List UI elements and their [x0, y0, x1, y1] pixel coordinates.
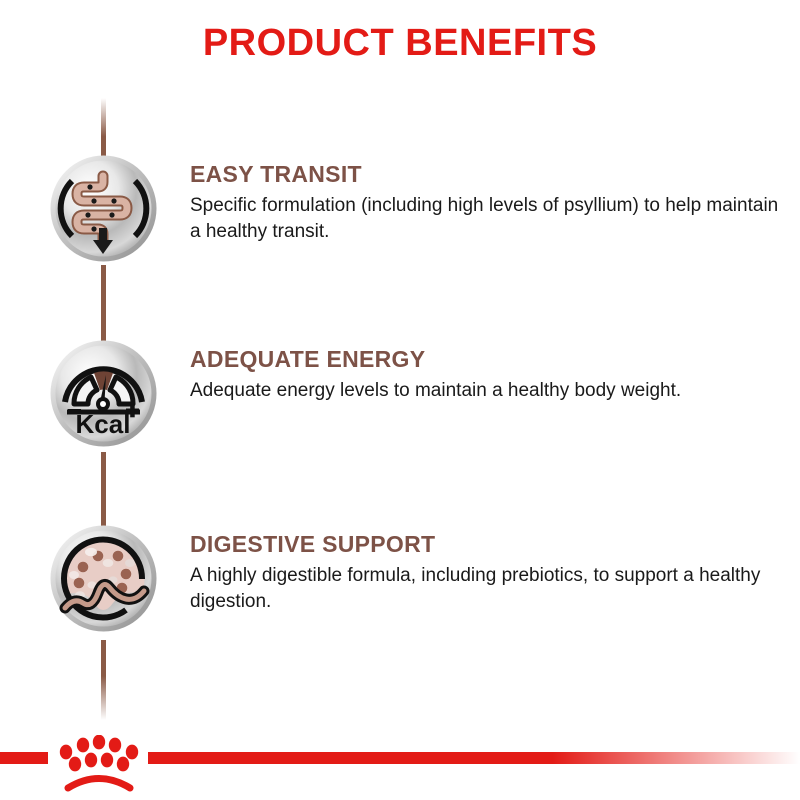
benefit-text-block: EASY TRANSIT Specific formulation (inclu… [190, 161, 780, 244]
royal-canin-crown-logo [60, 735, 138, 788]
gauge-kcal-label: Kcal [76, 409, 131, 439]
page-title: PRODUCT BENEFITS [0, 22, 800, 65]
footer [0, 735, 800, 800]
benefit-body: Specific formulation (including high lev… [190, 193, 780, 244]
spine-segment-bottom [101, 640, 106, 720]
digestive-support-icon [50, 525, 157, 632]
product-benefits-page: PRODUCT BENEFITS [0, 0, 800, 800]
benefit-body: A highly digestible formula, including p… [190, 563, 780, 614]
benefit-heading: EASY TRANSIT [190, 161, 780, 188]
benefit-text-block: DIGESTIVE SUPPORT A highly digestible fo… [190, 531, 780, 614]
footer-bar-left [0, 752, 48, 764]
footer-bar-right [148, 752, 800, 764]
benefit-heading: DIGESTIVE SUPPORT [190, 531, 780, 558]
benefit-text-block: ADEQUATE ENERGY Adequate energy levels t… [190, 346, 780, 404]
benefit-heading: ADEQUATE ENERGY [190, 346, 780, 373]
intestine-transit-icon [50, 155, 157, 262]
benefit-body: Adequate energy levels to maintain a hea… [190, 378, 780, 404]
kcal-gauge-icon: Kcal [50, 340, 157, 447]
